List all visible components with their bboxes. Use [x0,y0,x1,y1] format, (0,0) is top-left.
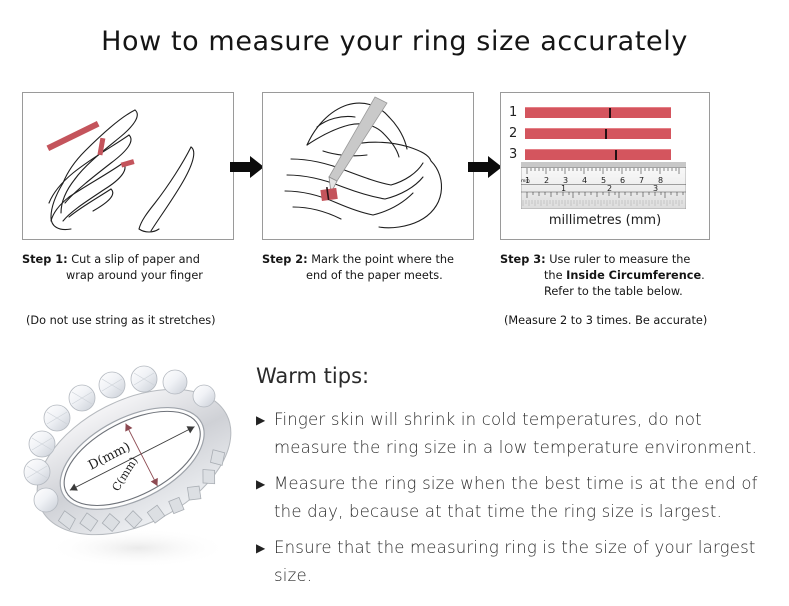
svg-text:3: 3 [653,184,658,193]
step-2-caption: Step 2: Mark the point where the end of … [262,252,482,284]
tip-item-2: ▶ Measure the ring size when the best ti… [256,470,776,526]
strip-number-1: 1 [509,105,525,120]
paper-strip-on-finger [320,187,337,201]
strip-number-2: 2 [509,126,525,141]
paper-strip-long [47,121,100,151]
paper-strip-3 [525,149,671,160]
tip-text-1: Finger skin will shrink in cold temperat… [274,406,776,462]
measure-mark-3 [615,150,617,160]
step-3-note: (Measure 2 to 3 times. Be accurate) [504,314,707,327]
steps-row: 1 2 3 [0,92,789,242]
tip-item-1: ▶ Finger skin will shrink in cold temper… [256,406,776,462]
tip-item-3: ▶ Ensure that the measuring ring is the … [256,534,776,590]
step-3-panel: 1 2 3 [500,92,710,240]
svg-text:6: 6 [620,176,625,185]
tip-text-2: Measure the ring size when the best time… [274,470,776,526]
step-1-note: (Do not use string as it stretches) [26,314,216,327]
svg-text:1: 1 [561,184,566,193]
svg-text:2: 2 [607,184,612,193]
step-1-line2: wrap around your finger [22,268,242,284]
step-2-line2: end of the paper meets. [262,268,482,284]
diamond-eternity-ring-photo: D(mm) C(mm) [18,352,250,578]
step-3-line2-tail: . [701,269,705,282]
strip-number-3: 3 [509,147,525,162]
svg-text:5: 5 [601,176,606,185]
paper-strip-2 [525,128,671,139]
step-1-caption: Step 1: Cut a slip of paper and wrap aro… [22,252,242,284]
ruler-icon: 1 2 3 4 5 6 7 8 mm 1 2 3 [521,162,686,209]
svg-text:8: 8 [658,176,663,185]
svg-text:mm: mm [521,179,530,184]
step-3-label: Step 3: [500,253,546,266]
svg-text:2: 2 [544,176,549,185]
page-title: How to measure your ring size accurately [0,26,789,57]
step-1-line1: Cut a slip of paper and [71,253,200,266]
strip-row-2: 2 [509,126,671,141]
triangle-bullet-icon: ▶ [256,534,274,562]
step-1-label: Step 1: [22,253,68,266]
step-3-line2-prefix: the [544,269,566,282]
warm-tips-heading: Warm tips: [256,364,776,388]
step-2-line1: Mark the point where the [311,253,454,266]
measure-mark-1 [609,108,611,118]
tip-text-3: Ensure that the measuring ring is the si… [274,534,776,590]
ring-figure: D(mm) C(mm) [18,352,250,578]
svg-text:7: 7 [639,176,644,185]
triangle-bullet-icon: ▶ [256,470,274,498]
step-3-emphasis: Inside Circumference [566,269,701,282]
svg-text:4: 4 [582,176,587,185]
triangle-bullet-icon: ▶ [256,406,274,434]
arrow-right-icon-1 [230,156,264,178]
step-3-line2: the Inside Circumference. [500,268,750,284]
warm-tips-section: Warm tips: ▶ Finger skin will shrink in … [256,364,776,598]
hand-marking-paper-with-pen-illustration [263,93,473,239]
step-2-panel [262,92,474,240]
step-3-line1: Use ruler to measure the [549,253,690,266]
arrow-right-icon-2 [468,156,502,178]
paper-strip-wrapped [97,138,134,168]
pen-icon [329,97,387,193]
strip-row-3: 3 [509,147,671,162]
step-3-caption: Step 3: Use ruler to measure the the Ins… [500,252,750,300]
ruler-scale-label: millimetres (mm) [501,213,709,228]
measure-mark-2 [605,129,607,139]
step-1-panel [22,92,234,240]
strip-row-1: 1 [509,105,671,120]
step-3-line3: Refer to the table below. [500,284,750,300]
hand-with-paper-strip-illustration [23,93,233,239]
paper-strip-1 [525,107,671,118]
step-2-label: Step 2: [262,253,308,266]
